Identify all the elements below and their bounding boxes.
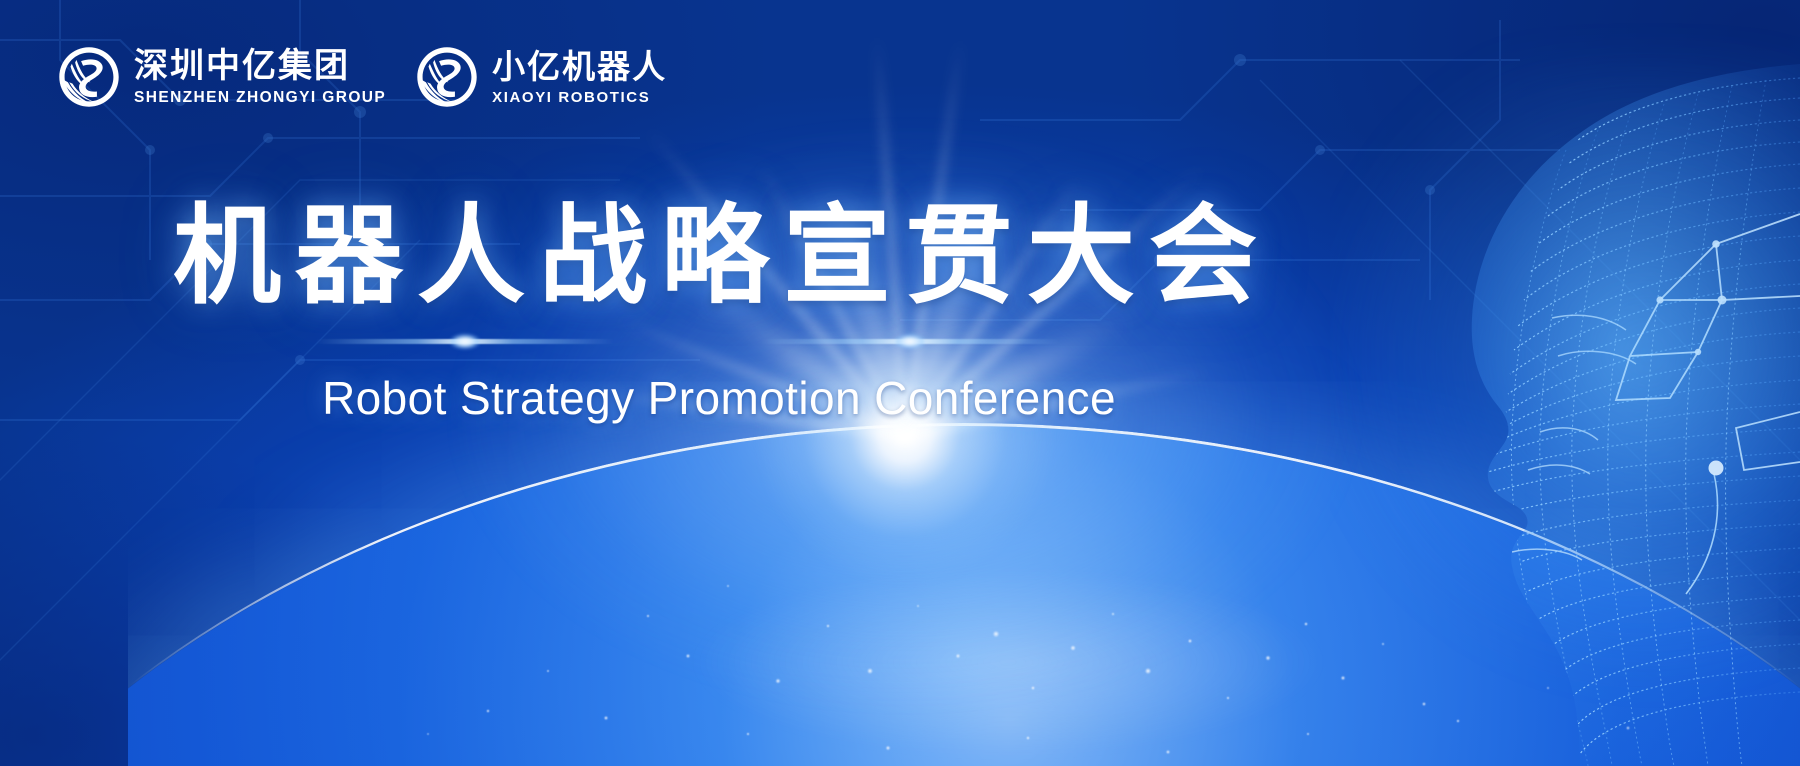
logo-group: 深圳中亿集团 SHENZHEN ZHONGYI GROUP 小亿机器人 XIAO…	[56, 44, 667, 110]
lens-flare-left	[315, 339, 615, 344]
subtitle-en: Robot Strategy Promotion Conference	[0, 371, 1430, 425]
zhongyi-swoosh-circle-logo-icon	[56, 44, 122, 110]
logo-shenzhen-zhongyi-group[interactable]: 深圳中亿集团 SHENZHEN ZHONGYI GROUP	[56, 44, 386, 110]
logo-xiaoyi-robotics[interactable]: 小亿机器人 XIAOYI ROBOTICS	[414, 44, 667, 110]
conference-banner: 深圳中亿集团 SHENZHEN ZHONGYI GROUP 小亿机器人 XIAO…	[0, 0, 1800, 766]
logo-name-en: XIAOYI ROBOTICS	[492, 90, 667, 105]
title-block: 机器人战略宣贯大会 Robot Strategy Promotion Confe…	[0, 196, 1430, 425]
logo-text-block: 深圳中亿集团 SHENZHEN ZHONGYI GROUP	[134, 49, 386, 106]
logo-text-block: 小亿机器人 XIAOYI ROBOTICS	[492, 50, 667, 105]
lens-flare-right	[760, 339, 1060, 344]
title-flare-row	[0, 323, 1430, 359]
logo-name-cn: 小亿机器人	[492, 50, 667, 83]
xiaoyi-swoosh-circle-logo-icon	[414, 44, 480, 110]
logo-name-en: SHENZHEN ZHONGYI GROUP	[134, 90, 386, 106]
main-title-cn: 机器人战略宣贯大会	[0, 196, 1430, 317]
logo-name-cn: 深圳中亿集团	[134, 49, 386, 83]
